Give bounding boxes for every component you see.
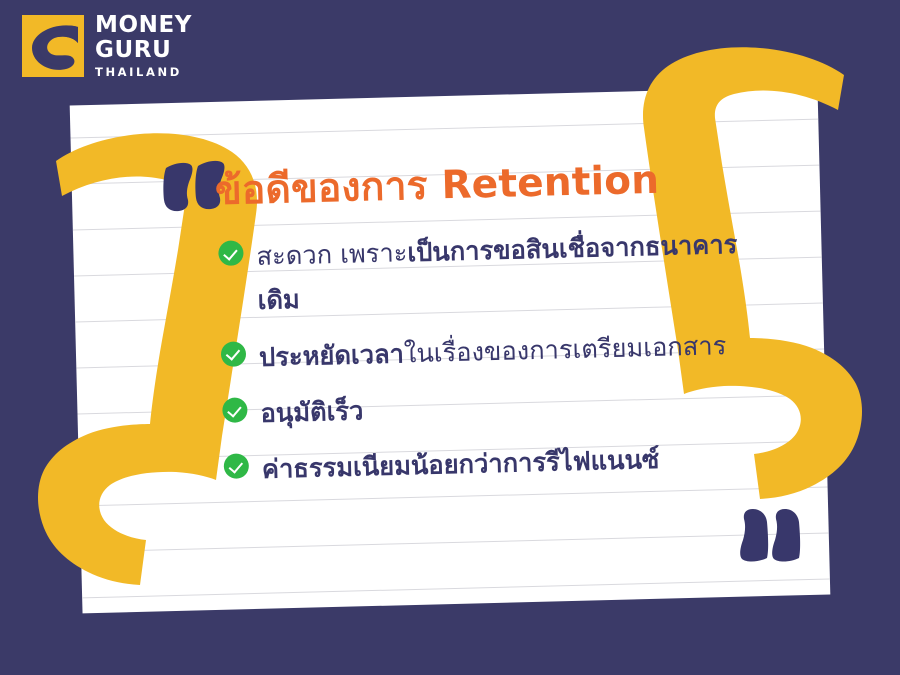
list-item-text: ประหยัดเวลาในเรื่องของการเตรียมเอกสาร bbox=[259, 324, 727, 380]
list-item: สะดวก เพราะเป็นการขอสินเชื่อจากธนาคารเดิ… bbox=[218, 222, 780, 325]
list-item: ประหยัดเวลาในเรื่องของการเตรียมเอกสาร bbox=[221, 323, 782, 382]
list-item-trail: ในเรื่องของการเตรียมเอกสาร bbox=[404, 331, 727, 369]
card-content: ข้อดีของการ Retention สะดวก เพราะเป็นการ… bbox=[0, 0, 900, 675]
list-item-text: สะดวก เพราะเป็นการขอสินเชื่อจากธนาคารเดิ… bbox=[256, 222, 763, 323]
page-title: ข้อดีของการ Retention bbox=[214, 149, 660, 222]
check-circle-icon bbox=[221, 341, 247, 367]
check-circle-icon bbox=[222, 397, 248, 423]
check-circle-icon bbox=[224, 454, 250, 480]
poster-canvas: MONEY GURU THAILAND bbox=[0, 0, 900, 675]
check-circle-icon bbox=[218, 240, 244, 266]
list-item-emphasis: ประหยัดเวลา bbox=[259, 339, 405, 373]
list-item-emphasis: อนุมัติเร็ว bbox=[260, 396, 364, 429]
list-item-text: ค่าธรรมเนียมน้อยกว่าการรีไฟแนนซ์ bbox=[261, 438, 659, 492]
list-item: อนุมัติเร็ว bbox=[222, 379, 783, 438]
list-item-text: อนุมัติเร็ว bbox=[260, 389, 364, 436]
list-item-lead: สะดวก เพราะ bbox=[256, 238, 408, 272]
benefits-list: สะดวก เพราะเป็นการขอสินเชื่อจากธนาคารเดิ… bbox=[218, 222, 785, 506]
list-item: ค่าธรรมเนียมน้อยกว่าการรีไฟแนนซ์ bbox=[223, 435, 784, 494]
list-item-emphasis: ค่าธรรมเนียมน้อยกว่าการรีไฟแนนซ์ bbox=[262, 445, 660, 485]
